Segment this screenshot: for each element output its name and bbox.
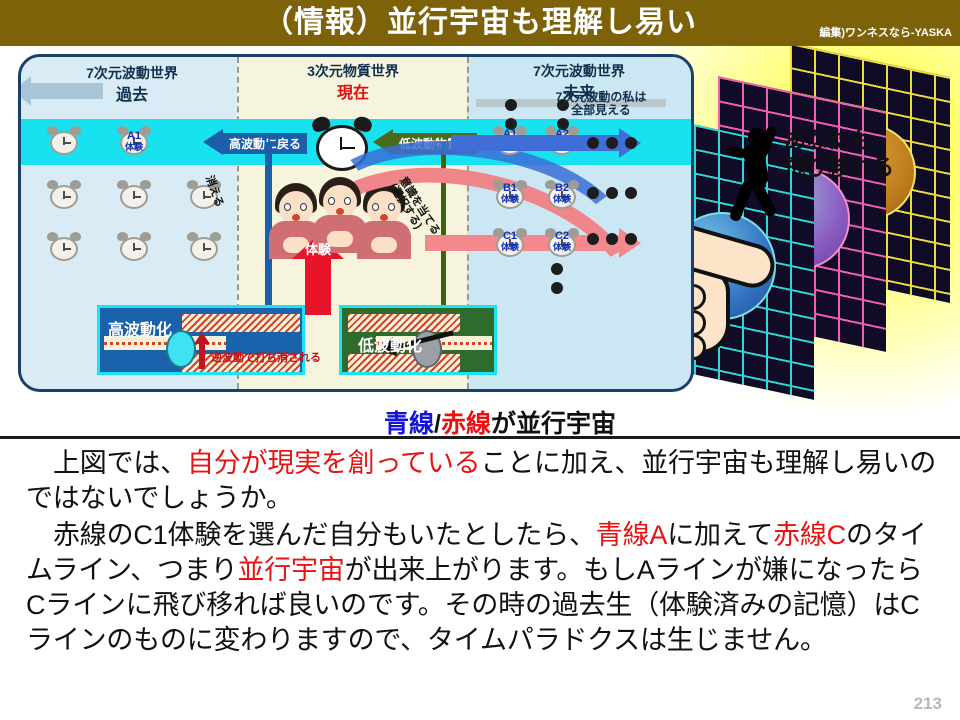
jump-callout: あなたも 飛び移れる	[784, 128, 894, 182]
experience-tag-b1: B1 体験	[493, 183, 527, 204]
experience-arrow-up	[305, 257, 331, 315]
experience-tag-code: B2	[555, 182, 569, 194]
experience-tag-code: A1	[127, 130, 141, 142]
caption-slash: /	[434, 410, 441, 436]
dots-vertical	[551, 263, 563, 301]
clock-icon	[47, 181, 81, 211]
experience-tag-a1-past: A1 体験	[117, 131, 151, 152]
experience-tag-sub: 体験	[545, 243, 579, 252]
slide: （情報）並行宇宙も理解し易い 編集)ワンネスなら-YASKA あなたも 飛び移れ…	[0, 0, 960, 720]
experience-tag-sub: 体験	[493, 243, 527, 252]
text-run: 自分が現実を創っている	[187, 448, 480, 478]
paragraph-2: 赤線のC1体験を選んだ自分もいたとしたら、青線Aに加えて赤線Cのタイムライン、つ…	[26, 518, 938, 658]
experience-tag-c1: C1 体験	[493, 231, 527, 252]
figure-area: あなたも 飛び移れる 7次元波動世界 過去 3次元物質世界 現在	[0, 46, 960, 436]
caption-tail: が並行宇宙	[491, 410, 616, 436]
back-to-high-arrow	[203, 129, 223, 155]
counter-wave-arrow	[199, 343, 205, 369]
caption-blue-line: 青線	[384, 410, 434, 436]
experience-tag-sub: 体験	[493, 195, 527, 204]
editor-credit: 編集)ワンネスなら-YASKA	[819, 24, 952, 40]
section-divider	[0, 436, 960, 439]
jump-callout-line1: あなたも	[784, 128, 894, 155]
wave-box-high-label: 高波動化	[108, 316, 172, 340]
experience-tag-sub: 体験	[117, 143, 151, 152]
clock-icon	[187, 233, 221, 263]
text-run: 上図では、	[53, 448, 187, 478]
page-title: （情報）並行宇宙も理解し易い	[0, 2, 960, 44]
clock-icon	[47, 233, 81, 263]
counter-wave-label: 逆波動で打ち消される	[211, 349, 321, 365]
jump-callout-line2: 飛び移れる	[784, 155, 894, 182]
experience-tag-b2: B2 体験	[545, 183, 579, 204]
caption-red-line: 赤線	[441, 410, 491, 436]
dots-row-a	[587, 137, 637, 149]
body-text: 上図では、自分が現実を創っていることに加え、並行宇宙も理解し易いのではないでしょ…	[26, 446, 938, 661]
timeline-diagram-panel: 7次元波動世界 過去 3次元物質世界 現在 7次元波動世界 未来 A1 体験	[18, 54, 694, 392]
clock-icon	[117, 233, 151, 263]
dots-row-c	[587, 233, 637, 245]
experience-tag-code: C1	[503, 230, 517, 242]
zone-present-sub: 現在	[267, 79, 439, 103]
experience-tag-c2: C2 体験	[545, 231, 579, 252]
text-run: 青線A	[596, 520, 667, 550]
figure-caption: 青線/赤線が並行宇宙	[300, 404, 700, 436]
dots-row-b	[587, 187, 637, 199]
wave-strip	[182, 314, 300, 332]
wave-strip	[348, 354, 460, 372]
text-run: 並行宇宙	[237, 555, 344, 585]
zone-present-label: 3次元物質世界	[267, 61, 439, 81]
clock-icon	[47, 127, 81, 157]
wave-box-low: 低波動化	[339, 305, 497, 375]
wave-box-low-label: 低波動化	[358, 332, 422, 356]
experience-tag-code: B1	[503, 182, 517, 194]
text-run: 赤線C	[773, 520, 846, 550]
past-direction-arrow	[29, 83, 103, 99]
annotation-all-visible: 7次元波動の私は 全部見える	[521, 91, 681, 116]
zone-future-label: 7次元波動世界	[491, 61, 667, 81]
clock-icon	[117, 181, 151, 211]
experience-tag-code: C2	[555, 230, 569, 242]
wave-strip	[348, 314, 460, 332]
zone-past-label: 7次元波動世界	[57, 63, 207, 83]
experience-tag-sub: 体験	[545, 195, 579, 204]
title-bar: （情報）並行宇宙も理解し易い 編集)ワンネスなら-YASKA	[0, 0, 960, 46]
page-number: 213	[914, 694, 942, 714]
text-run: 赤線のC1体験を選んだ自分もいたとしたら、	[53, 520, 596, 550]
experience-arrow-label: 体験	[298, 243, 338, 256]
text-run: に加えて	[667, 520, 773, 550]
paragraph-1: 上図では、自分が現実を創っていることに加え、並行宇宙も理解し易いのではないでしょ…	[26, 446, 938, 516]
